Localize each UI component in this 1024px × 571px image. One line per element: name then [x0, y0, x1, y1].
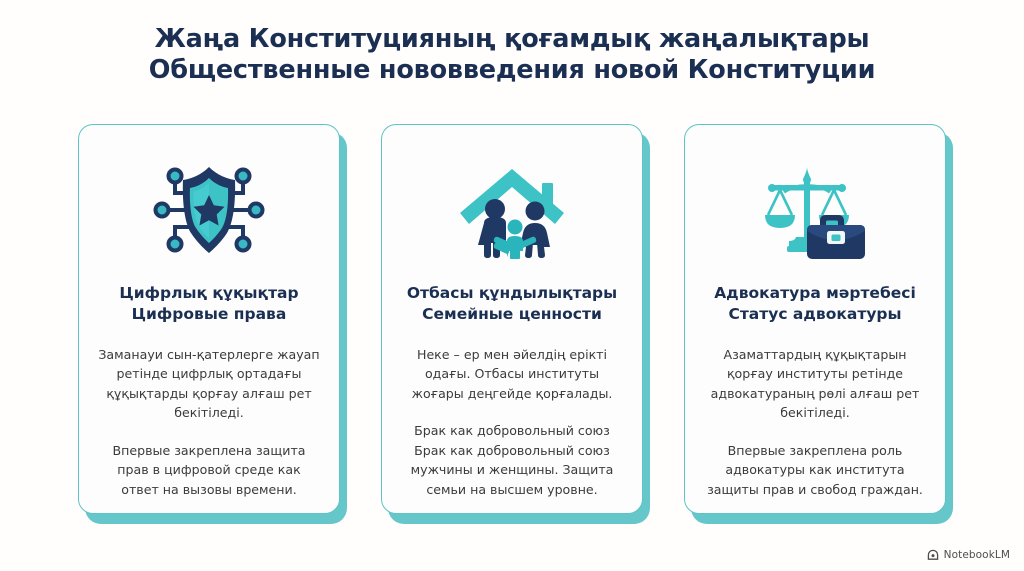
card-family-values: Отбасы құндылықтары Семейные ценности Не… — [381, 124, 643, 522]
cards-row: Цифрлық құқықтар Цифровые права Заманауи… — [78, 124, 946, 522]
card-title-digital-rights: Цифрлық құқықтар Цифровые права — [119, 283, 298, 325]
card-title-advocacy-status: Адвокатура мәртебесі Статус адвокатуры — [714, 283, 916, 325]
page-title: Жаңа Конституцияның қоғамдық жаңалықтары… — [0, 24, 1024, 86]
card-text-family-values: Неке – ер мен әйелдің ерікті одағы. Отба… — [396, 345, 628, 500]
card-title-family-values: Отбасы құндылықтары Семейные ценности — [407, 283, 617, 325]
shield-digital-rights-icon — [150, 159, 268, 261]
notebooklm-watermark: NotebookLM — [927, 549, 1010, 561]
notebooklm-label: NotebookLM — [944, 549, 1010, 561]
slide-root: Жаңа Конституцияның қоғамдық жаңалықтары… — [0, 0, 1024, 571]
card-text-digital-rights: Заманауи сын-қатерлерге жауап ретінде ци… — [93, 345, 325, 500]
notebooklm-logo-icon — [927, 549, 939, 561]
card-body-family-values: Отбасы құндылықтары Семейные ценности Не… — [381, 124, 643, 514]
page-title-russian: Общественные нововведения новой Конститу… — [0, 55, 1024, 86]
card-paragraph-kazakh: Азаматтардың құқықтарын қорғау институты… — [703, 345, 927, 423]
card-paragraph-kazakh: Заманауи сын-қатерлерге жауап ретінде ци… — [97, 345, 321, 423]
card-body-digital-rights: Цифрлық құқықтар Цифровые права Заманауи… — [78, 124, 340, 514]
card-paragraph-kazakh: Неке – ер мен әйелдің ерікті одағы. Отба… — [400, 345, 624, 404]
card-text-advocacy-status: Азаматтардың құқықтарын қорғау институты… — [699, 345, 931, 500]
card-paragraph-russian: Впервые закреплена роль адвокатуры как и… — [703, 441, 927, 500]
card-title-russian: Статус адвокатуры — [714, 304, 916, 325]
card-title-kazakh: Адвокатура мәртебесі — [714, 283, 916, 304]
card-title-kazakh: Цифрлық құқықтар — [119, 283, 298, 304]
card-paragraph-russian: Брак как добровольный союз Брак как добр… — [400, 421, 624, 499]
card-paragraph-russian: Впервые закреплена защита прав в цифрово… — [97, 441, 321, 500]
page-title-kazakh: Жаңа Конституцияның қоғамдық жаңалықтары — [0, 24, 1024, 55]
card-title-russian: Семейные ценности — [407, 304, 617, 325]
scales-briefcase-icon — [756, 159, 874, 261]
card-body-advocacy-status: Адвокатура мәртебесі Статус адвокатуры А… — [684, 124, 946, 514]
card-advocacy-status: Адвокатура мәртебесі Статус адвокатуры А… — [684, 124, 946, 522]
family-house-icon — [453, 159, 571, 261]
card-title-russian: Цифровые права — [119, 304, 298, 325]
card-title-kazakh: Отбасы құндылықтары — [407, 283, 617, 304]
card-digital-rights: Цифрлық құқықтар Цифровые права Заманауи… — [78, 124, 340, 522]
